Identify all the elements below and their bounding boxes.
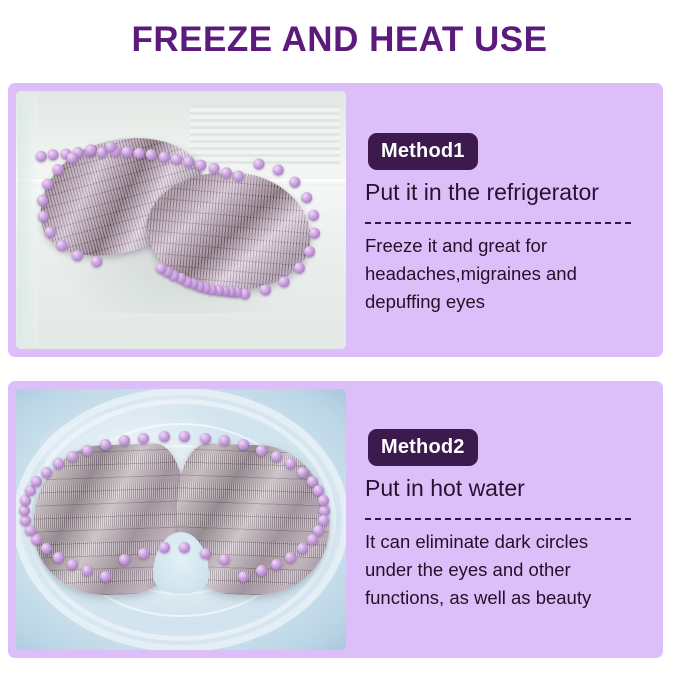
bead xyxy=(48,149,60,161)
bead xyxy=(72,250,84,262)
bead xyxy=(53,458,64,469)
bead xyxy=(19,505,30,516)
method-panel-1: Method1 Put it in the refrigerator Freez… xyxy=(8,83,663,357)
bead xyxy=(179,542,190,553)
bead-trim xyxy=(26,438,336,602)
bead xyxy=(52,164,64,176)
method-2-photo xyxy=(16,389,346,650)
bead xyxy=(200,433,211,444)
bead xyxy=(285,552,296,563)
bead xyxy=(158,151,170,163)
bead xyxy=(25,525,36,536)
bead xyxy=(219,554,230,565)
method-2-badge: Method2 xyxy=(368,429,478,466)
bead xyxy=(285,458,296,469)
method-1-text-column: Method1 Put it in the refrigerator Freez… xyxy=(360,83,645,357)
bead xyxy=(195,159,207,171)
bead xyxy=(41,543,52,554)
bead xyxy=(37,211,49,223)
method-panel-2: Method2 Put in hot water It can eliminat… xyxy=(8,381,663,658)
bead xyxy=(67,451,78,462)
bead xyxy=(271,451,282,462)
bead xyxy=(138,433,149,444)
bead xyxy=(256,445,267,456)
bead xyxy=(304,246,316,258)
bead xyxy=(41,467,52,478)
bead xyxy=(121,146,133,158)
bead xyxy=(307,534,318,545)
bead xyxy=(220,167,232,179)
bead xyxy=(219,435,230,446)
bead xyxy=(256,565,267,576)
bead xyxy=(91,255,103,267)
bead xyxy=(297,543,308,554)
bead xyxy=(278,276,290,288)
bead xyxy=(170,153,182,165)
bead xyxy=(41,178,53,190)
bead xyxy=(208,163,220,175)
bead xyxy=(200,548,211,559)
bead xyxy=(82,445,93,456)
bead xyxy=(272,165,284,177)
bead xyxy=(82,565,93,576)
bead xyxy=(294,262,306,274)
bead xyxy=(301,191,313,203)
bead xyxy=(36,194,48,206)
bead xyxy=(159,542,170,553)
bead xyxy=(159,431,170,442)
bead xyxy=(233,170,245,182)
method-2-body: It can eliminate dark circles under the … xyxy=(365,528,637,612)
bead xyxy=(183,156,195,168)
bead xyxy=(100,571,111,582)
method-2-headline: Put in hot water xyxy=(365,475,525,501)
bead xyxy=(289,176,301,188)
bead xyxy=(238,571,249,582)
method-1-body: Freeze it and great for headaches,migrai… xyxy=(365,232,637,316)
crystal-eye-mask-curved xyxy=(34,130,314,302)
method-2-text-column: Method2 Put in hot water It can eliminat… xyxy=(360,381,645,658)
bead-trim xyxy=(27,123,322,310)
method-1-photo xyxy=(16,91,346,349)
bead xyxy=(67,152,79,164)
bead xyxy=(56,240,68,252)
bead xyxy=(31,476,42,487)
bead xyxy=(260,284,272,296)
bead xyxy=(20,495,31,506)
bead xyxy=(119,554,130,565)
method-1-headline: Put it in the refrigerator xyxy=(365,179,599,205)
refrigerator-scene xyxy=(16,91,346,349)
bead xyxy=(100,439,111,450)
bead xyxy=(67,559,78,570)
bead xyxy=(44,226,56,238)
bead xyxy=(35,151,47,163)
water-bowl-scene xyxy=(16,389,346,650)
bead xyxy=(238,439,249,450)
bead xyxy=(146,149,158,161)
method-1-badge: Method1 xyxy=(368,133,478,170)
bead xyxy=(138,548,149,559)
bead xyxy=(119,435,130,446)
bead xyxy=(133,147,145,159)
bead xyxy=(25,485,36,496)
bead xyxy=(318,495,329,506)
method-1-divider xyxy=(365,222,631,224)
method-2-divider xyxy=(365,518,631,520)
bead xyxy=(297,467,308,478)
bead xyxy=(253,158,265,170)
bead xyxy=(53,552,64,563)
crystal-eye-mask-flat xyxy=(33,445,329,595)
bead xyxy=(179,431,190,442)
page-title: FREEZE AND HEAT USE xyxy=(0,20,679,60)
bead xyxy=(31,534,42,545)
bead xyxy=(271,559,282,570)
